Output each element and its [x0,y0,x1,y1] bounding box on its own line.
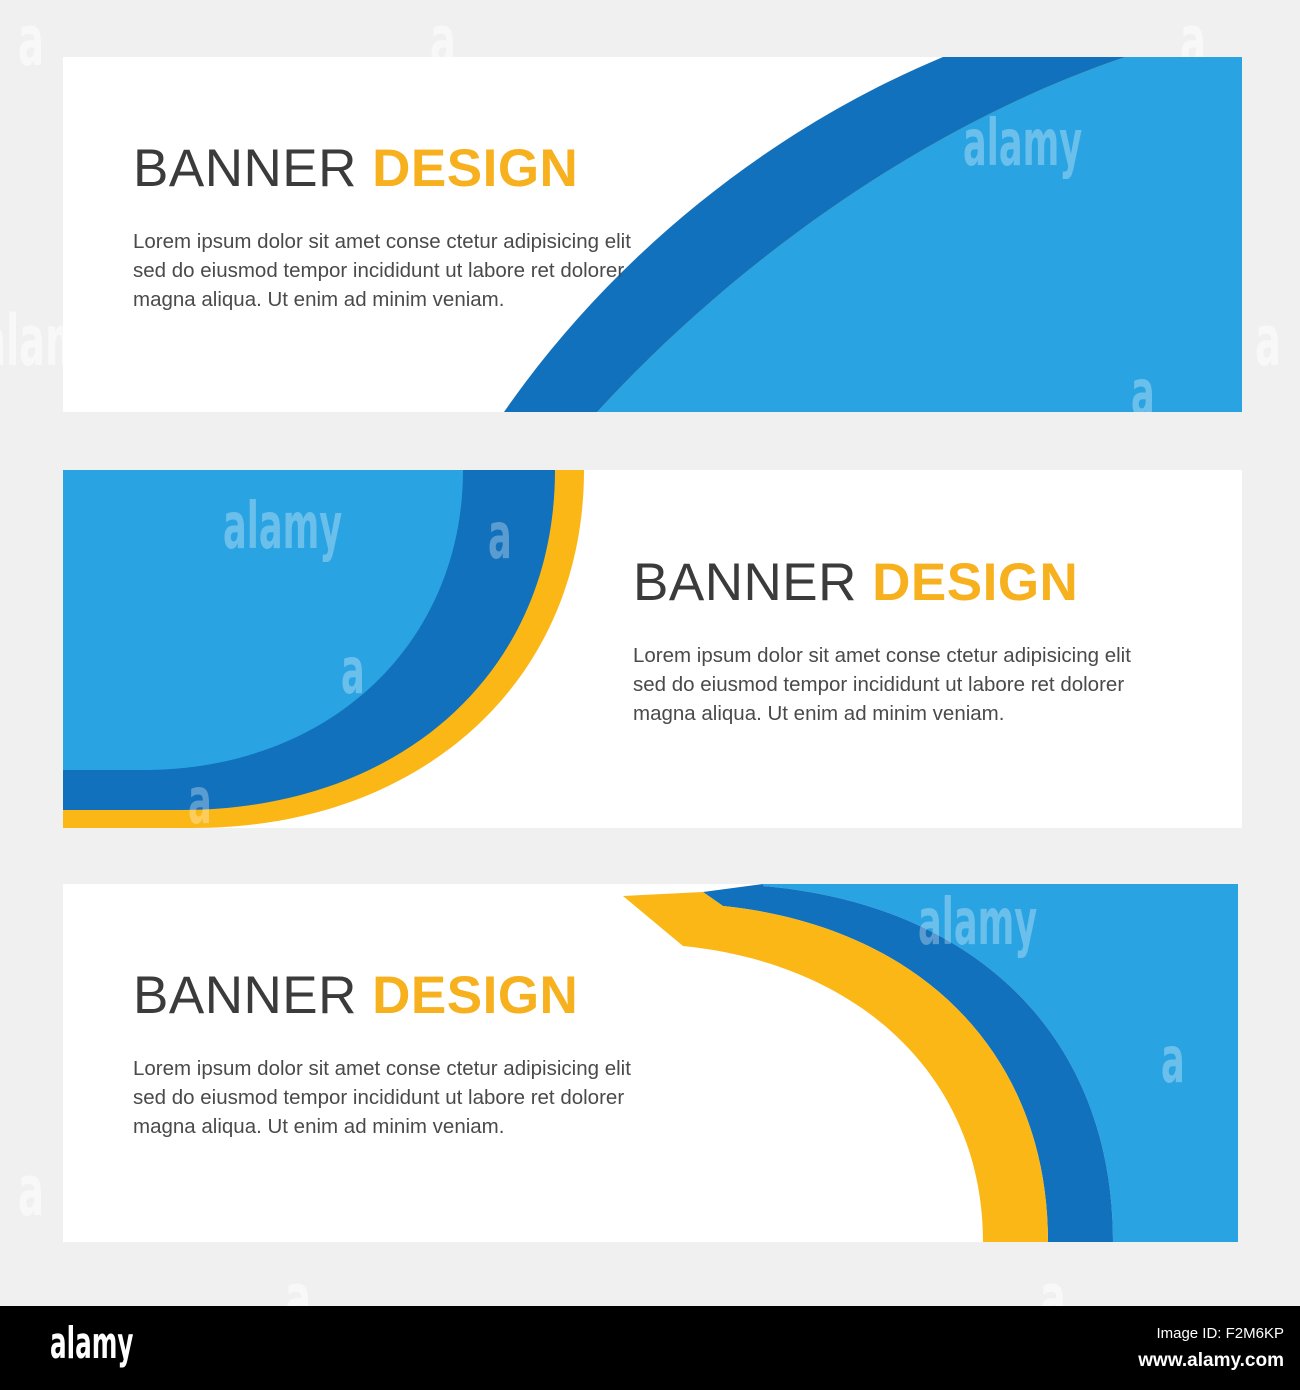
banner-card-2[interactable]: alamy a a a BANNER DESIGN Lorem ipsum do… [63,470,1242,828]
banner-2-headline-accent: DESIGN [872,553,1078,612]
banner-card-1[interactable]: alamy a a a BANNER DESIGN Lorem ipsum do… [63,57,1242,412]
banner-1-headline-primary: BANNER [133,139,357,198]
banner-3-headline-primary: BANNER [133,966,357,1025]
banner-2-body: Lorem ipsum dolor sit amet conse ctetur … [633,641,1131,728]
banner-3-headline-accent: DESIGN [372,966,578,1025]
banner-2-body-line: Lorem ipsum dolor sit amet conse ctetur … [633,641,1131,670]
banner-1-copy: BANNER DESIGN Lorem ipsum dolor sit amet… [133,142,631,314]
image-id-label: Image ID: F2M6KP [1156,1325,1284,1342]
banner-3-headline: BANNER DESIGN [133,969,631,1022]
alamy-logo: alamy [50,1322,133,1366]
banner-2-body-line: magna aliqua. Ut enim ad minim veniam. [633,699,1131,728]
banner-3-body-line: sed do eiusmod tempor incididunt ut labo… [133,1083,631,1112]
banner-3-body: Lorem ipsum dolor sit amet conse ctetur … [133,1054,631,1141]
banner-2-headline: BANNER DESIGN [633,556,1131,609]
stock-photo-canvas: alamy a a a a a a a alamy a a a BANNER D… [0,0,1300,1390]
banner-2-headline-primary: BANNER [633,553,857,612]
banner-1-body-line: sed do eiusmod tempor incididunt ut labo… [133,256,631,285]
background-watermark-mark: a [18,0,44,82]
banner-1-body-line: Lorem ipsum dolor sit amet conse ctetur … [133,227,631,256]
banner-1-body-line: magna aliqua. Ut enim ad minim veniam. [133,285,631,314]
banner-3-copy: BANNER DESIGN Lorem ipsum dolor sit amet… [133,969,631,1141]
banner-1-body: Lorem ipsum dolor sit amet conse ctetur … [133,227,631,314]
banner-2-body-line: sed do eiusmod tempor incididunt ut labo… [633,670,1131,699]
background-watermark-mark: a [18,1150,44,1232]
banner-3-body-line: magna aliqua. Ut enim ad minim veniam. [133,1112,631,1141]
banner-3-body-line: Lorem ipsum dolor sit amet conse ctetur … [133,1054,631,1083]
alamy-url[interactable]: www.alamy.com [1138,1350,1284,1372]
banner-card-3[interactable]: alamy a BANNER DESIGN Lorem ipsum dolor … [63,884,1238,1242]
banner-1-headline: BANNER DESIGN [133,142,631,195]
banner-1-headline-accent: DESIGN [372,139,578,198]
banner-2-copy: BANNER DESIGN Lorem ipsum dolor sit amet… [633,556,1131,728]
background-watermark-mark: a [1255,300,1281,382]
footer-bar [0,1306,1300,1390]
